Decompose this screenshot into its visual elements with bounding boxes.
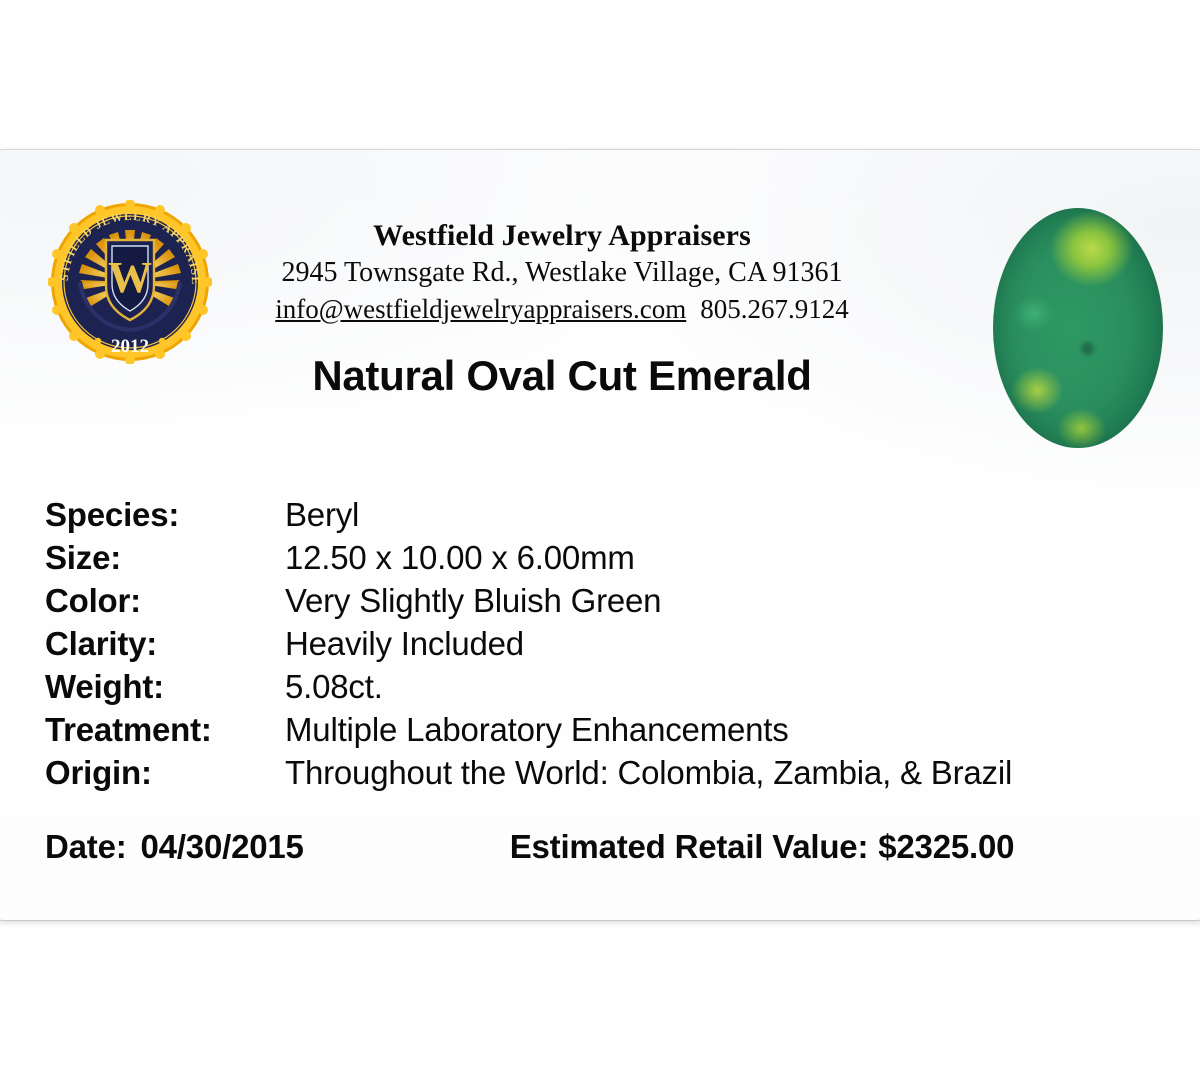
appraisal-card: WESTFIELD JEWELRY APPRAISERS: [0, 0, 1200, 1080]
emerald-oval-shape: [993, 208, 1163, 448]
appraiser-seal-icon: WESTFIELD JEWELRY APPRAISERS: [48, 200, 212, 364]
spec-label-treatment: Treatment:: [45, 711, 285, 749]
company-contact: info@westfieldjewelryappraisers.com805.2…: [232, 292, 892, 327]
card-footer: Date:04/30/2015 Estimated Retail Value:$…: [45, 828, 1125, 866]
page-title: Natural Oval Cut Emerald: [232, 352, 892, 400]
spec-label-weight: Weight:: [45, 668, 285, 706]
spec-row-size: Size: 12.50 x 10.00 x 6.00mm: [45, 539, 1125, 582]
date-label: Date:: [45, 828, 127, 865]
spec-label-origin: Origin:: [45, 754, 285, 792]
spec-row-treatment: Treatment: Multiple Laboratory Enhanceme…: [45, 711, 1125, 754]
specification-list: Species: Beryl Size: 12.50 x 10.00 x 6.0…: [45, 496, 1125, 797]
gemstone-photo: [993, 208, 1163, 448]
spec-value-size: 12.50 x 10.00 x 6.00mm: [285, 539, 635, 577]
spec-label-size: Size:: [45, 539, 285, 577]
spec-row-weight: Weight: 5.08ct.: [45, 668, 1125, 711]
company-phone: 805.267.9124: [700, 294, 849, 324]
appraisal-date: Date:04/30/2015: [45, 828, 304, 866]
spec-label-clarity: Clarity:: [45, 625, 285, 663]
spec-label-species: Species:: [45, 496, 285, 534]
date-value: 04/30/2015: [141, 828, 304, 865]
spec-value-origin: Throughout the World: Colombia, Zambia, …: [285, 754, 1012, 792]
spec-row-clarity: Clarity: Heavily Included: [45, 625, 1125, 668]
estimated-retail-value: Estimated Retail Value:$2325.00: [510, 828, 1015, 866]
spec-value-species: Beryl: [285, 496, 359, 534]
company-name: Westfield Jewelry Appraisers: [232, 218, 892, 253]
emerald-inclusion-spot: [1081, 342, 1094, 355]
spec-value-color: Very Slightly Bluish Green: [285, 582, 661, 620]
spec-value-weight: 5.08ct.: [285, 668, 383, 706]
retail-value-label: Estimated Retail Value:: [510, 828, 869, 865]
seal-year: 2012: [111, 336, 149, 357]
seal-monogram: W: [108, 253, 152, 302]
letterhead: Westfield Jewelry Appraisers 2945 Townsg…: [232, 218, 892, 327]
spec-value-treatment: Multiple Laboratory Enhancements: [285, 711, 789, 749]
spec-label-color: Color:: [45, 582, 285, 620]
company-email-link[interactable]: info@westfieldjewelryappraisers.com: [275, 294, 686, 324]
spec-row-species: Species: Beryl: [45, 496, 1125, 539]
spec-value-clarity: Heavily Included: [285, 625, 524, 663]
spec-row-color: Color: Very Slightly Bluish Green: [45, 582, 1125, 625]
company-address: 2945 Townsgate Rd., Westlake Village, CA…: [232, 255, 892, 291]
spec-row-origin: Origin: Throughout the World: Colombia, …: [45, 754, 1125, 797]
retail-value-amount: $2325.00: [878, 828, 1014, 865]
